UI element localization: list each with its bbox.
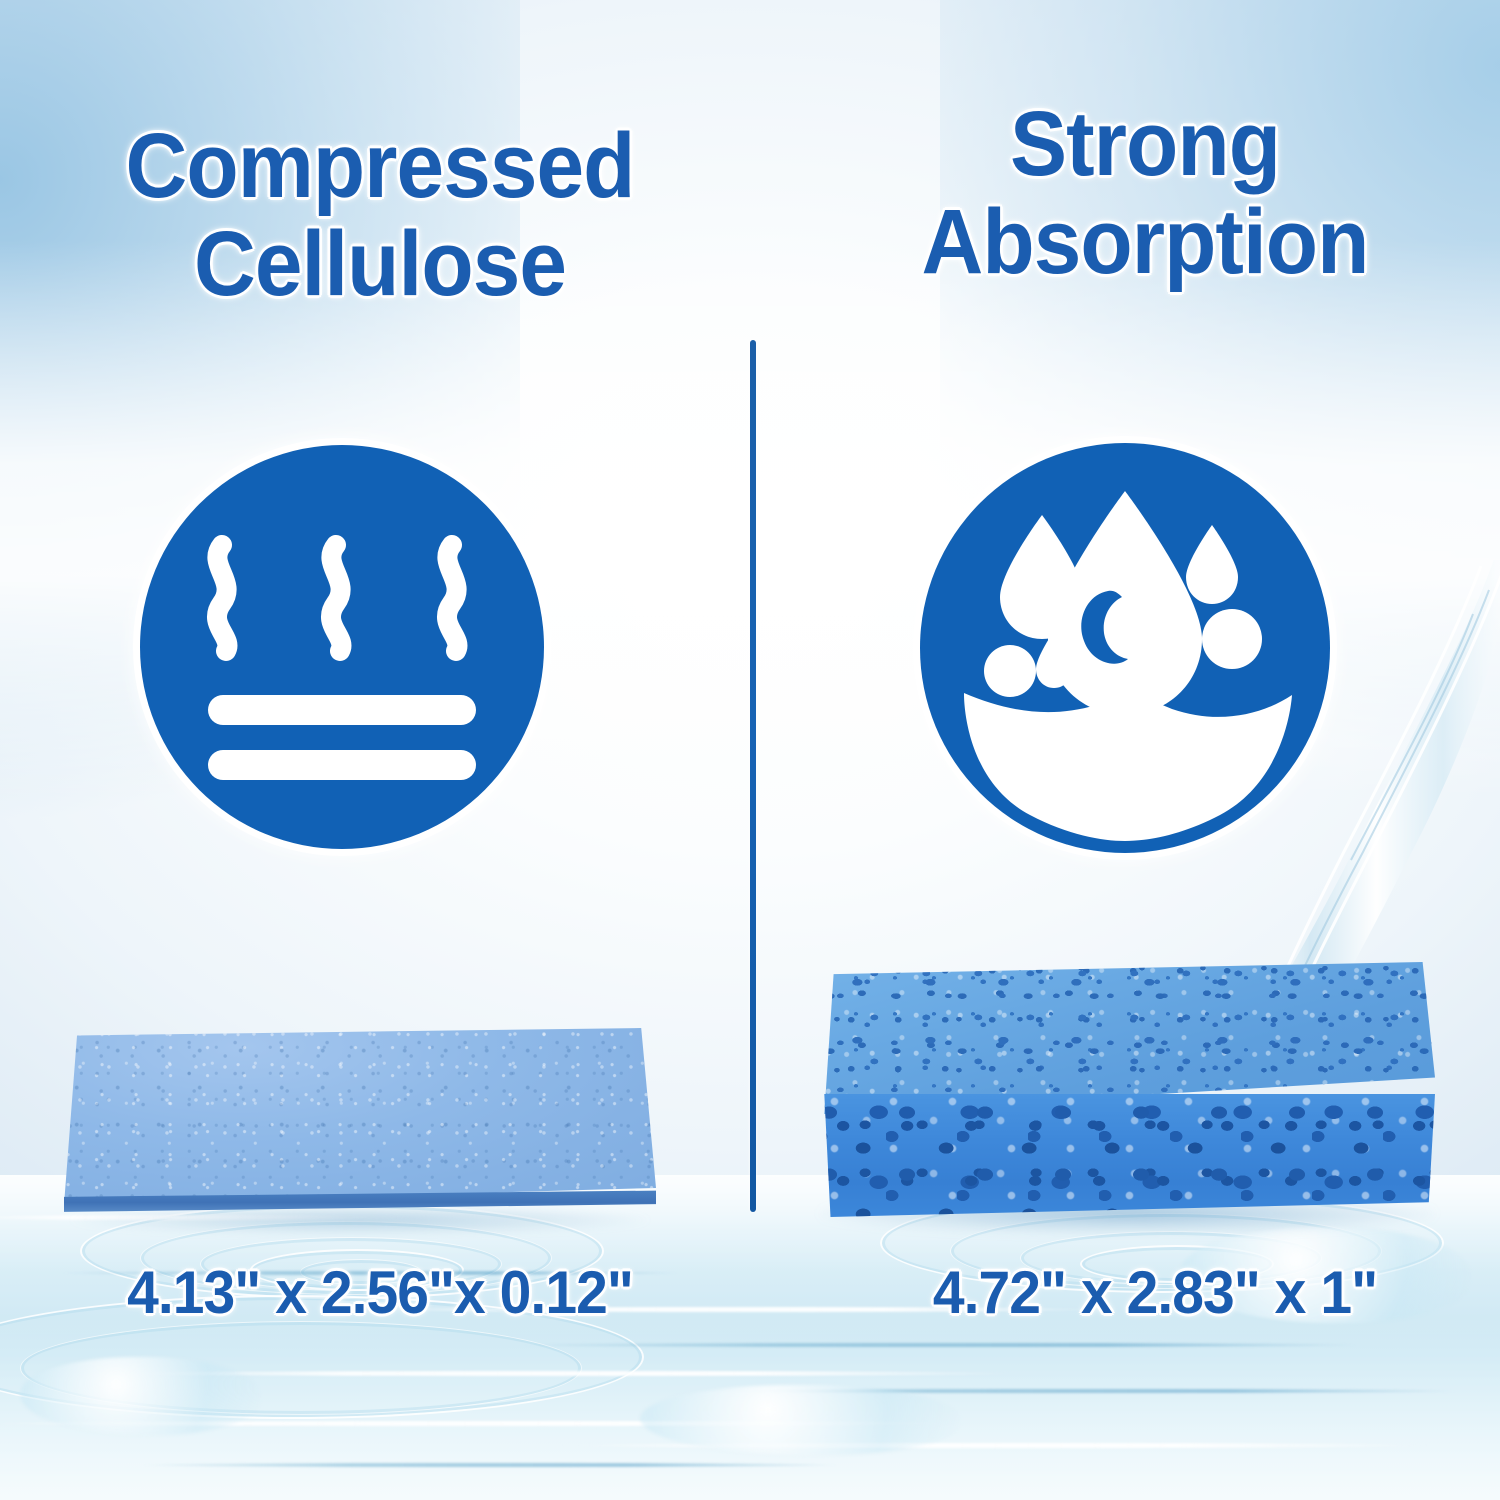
compressed-cellulose-sheet xyxy=(64,1028,656,1214)
water-streak xyxy=(140,1463,840,1467)
water-streak xyxy=(120,1371,1020,1376)
panel-title-right: Strong Absorption xyxy=(824,96,1466,291)
expanded-cellulose-sponge xyxy=(815,962,1435,1217)
sponge-front-face xyxy=(815,1094,1435,1217)
panel-title-left: Compressed Cellulose xyxy=(64,118,696,313)
sponge-top-surface xyxy=(815,962,1435,1114)
infographic-canvas: Compressed Cellulose 4.13" x 2.56"x 0.12… xyxy=(0,0,1500,1500)
vertical-divider xyxy=(750,340,756,1212)
sheet-texture xyxy=(64,1028,656,1214)
sponge-top-pores xyxy=(815,962,1435,1114)
steam-lines-over-layers-icon xyxy=(140,445,544,849)
sponge-front-pores xyxy=(815,1094,1435,1217)
water-streak xyxy=(520,1343,1360,1347)
dimension-label-left: 4.13" x 2.56"x 0.12" xyxy=(86,1258,675,1327)
dimension-label-right: 4.72" x 2.83" x 1" xyxy=(903,1258,1407,1327)
